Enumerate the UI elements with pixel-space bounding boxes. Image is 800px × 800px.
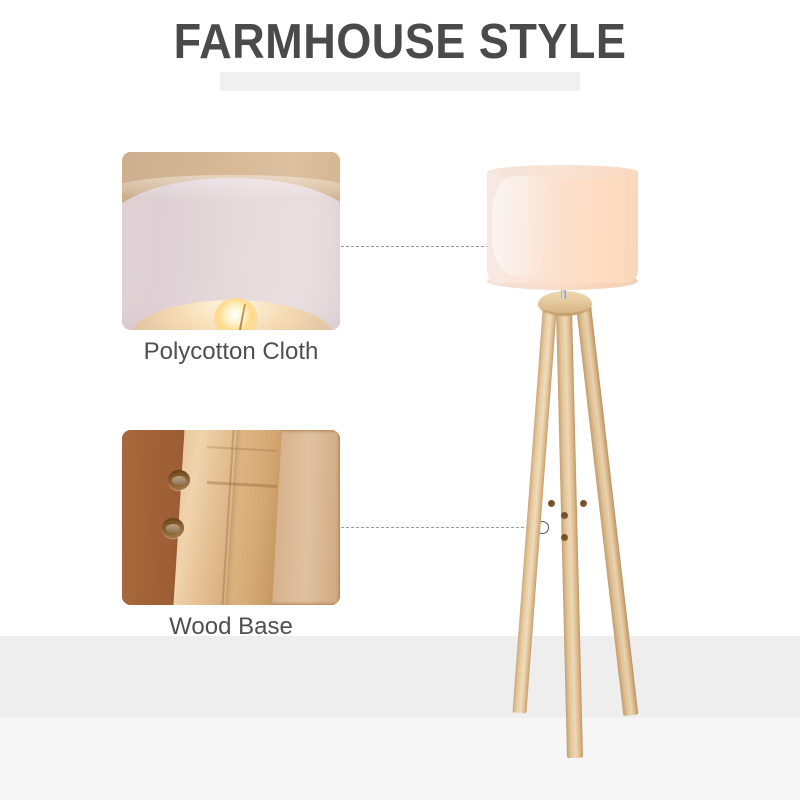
product-feature-image: FARMHOUSE STYLE Polycotton Cloth Wood Ba…	[0, 0, 800, 800]
lampshade-highlight	[492, 176, 548, 276]
tripod-floor-lamp	[0, 0, 800, 800]
leg-screw-hole	[561, 512, 568, 519]
leg-surface	[556, 308, 583, 758]
tripod-leg-middle	[556, 308, 583, 758]
leg-screw-hole	[580, 500, 587, 507]
tripod-leg-right	[576, 305, 638, 716]
leg-screw-hole	[561, 534, 568, 541]
tripod-leg-left	[512, 305, 557, 713]
leg-screw-hole	[548, 500, 555, 507]
leg-surface	[512, 305, 557, 713]
leg-surface	[576, 305, 638, 716]
